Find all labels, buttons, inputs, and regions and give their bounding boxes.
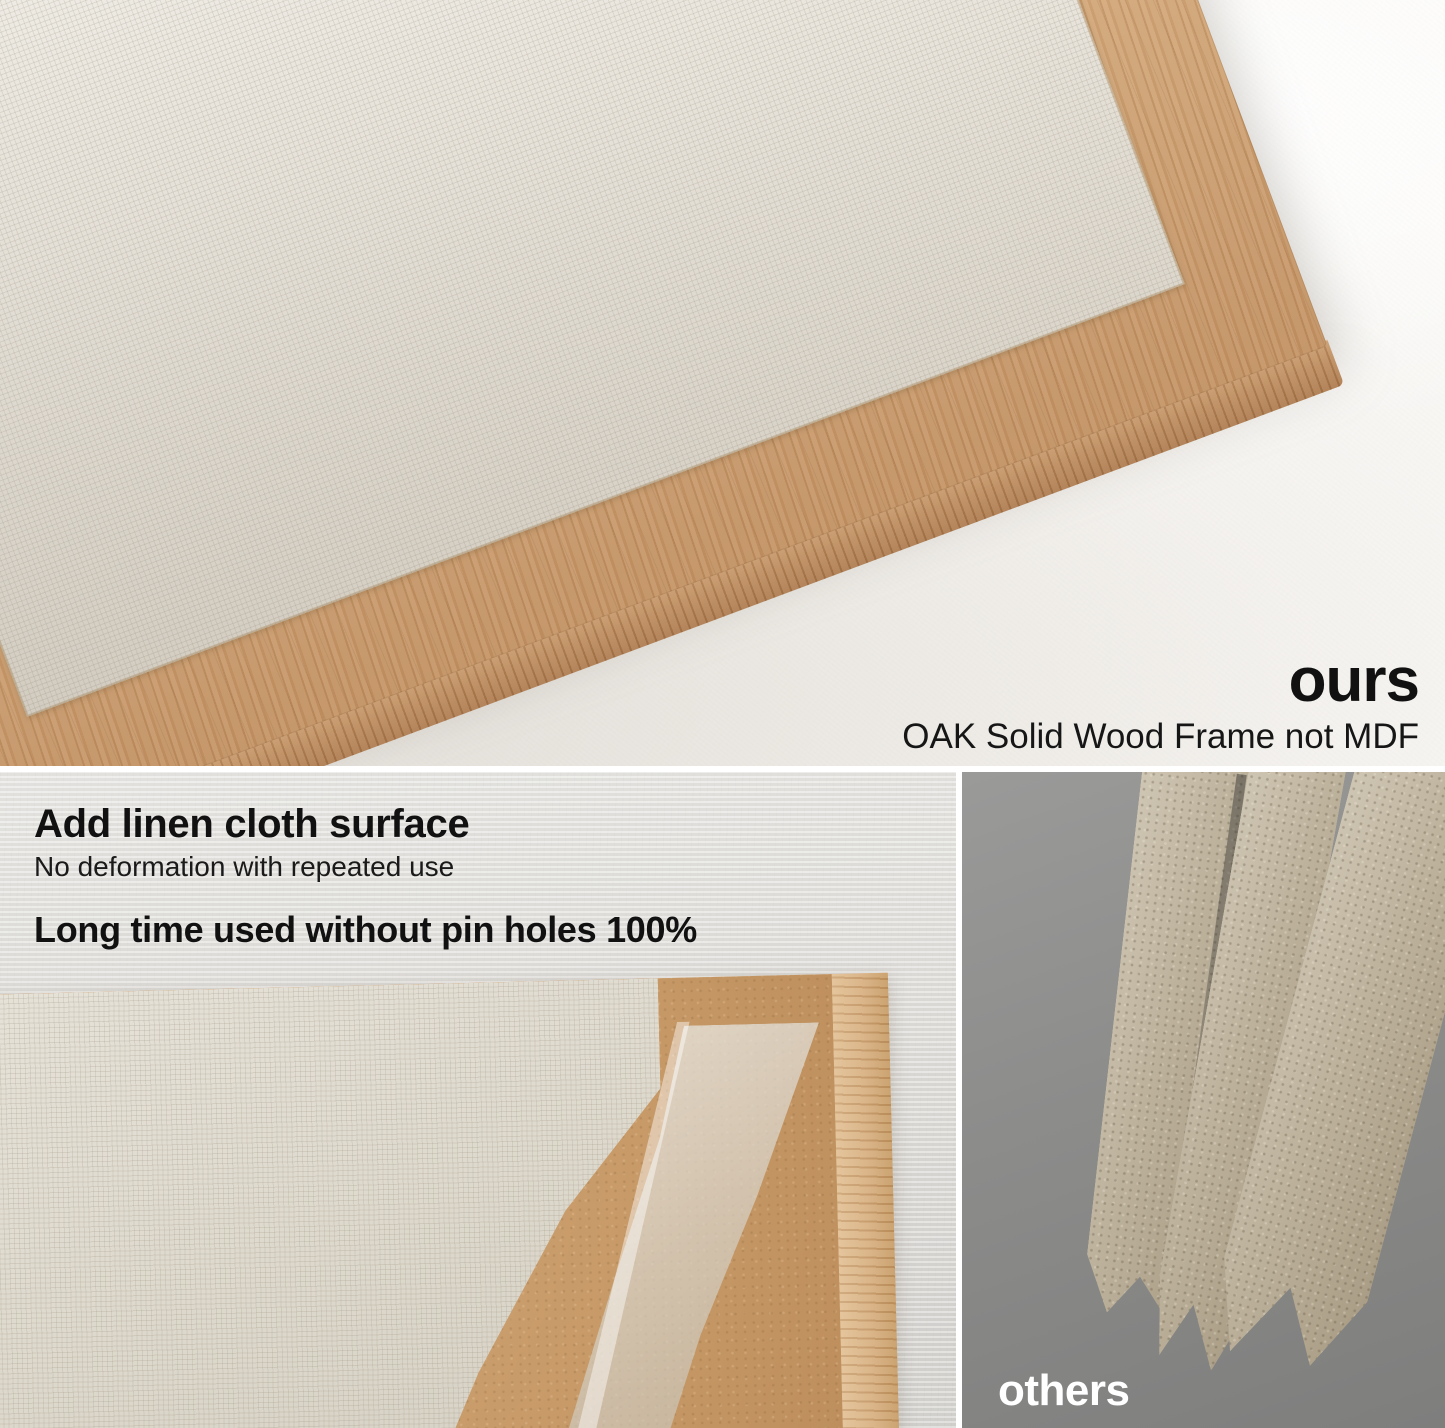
bl-subline: No deformation with repeated use bbox=[34, 851, 914, 883]
bl-headline: Add linen cloth surface bbox=[34, 802, 914, 847]
bulletin-board-photo bbox=[0, 973, 900, 1428]
top-caption-block: ours OAK Solid Wood Frame not MDF bbox=[902, 650, 1419, 757]
ours-subtitle: OAK Solid Wood Frame not MDF bbox=[902, 718, 1419, 757]
panel-linen-surface-detail: Add linen cloth surface No deformation w… bbox=[0, 772, 956, 1428]
ours-label: ours bbox=[902, 650, 1419, 712]
others-label: others bbox=[998, 1366, 1129, 1416]
bl-caption-block: Add linen cloth surface No deformation w… bbox=[34, 802, 914, 951]
infographic-canvas: ours OAK Solid Wood Frame not MDF Add li… bbox=[0, 0, 1445, 1428]
bl-claim: Long time used without pin holes 100% bbox=[34, 909, 914, 951]
panel-mdf-comparison: others bbox=[962, 772, 1445, 1428]
panel-oak-frame-closeup: ours OAK Solid Wood Frame not MDF bbox=[0, 0, 1445, 766]
